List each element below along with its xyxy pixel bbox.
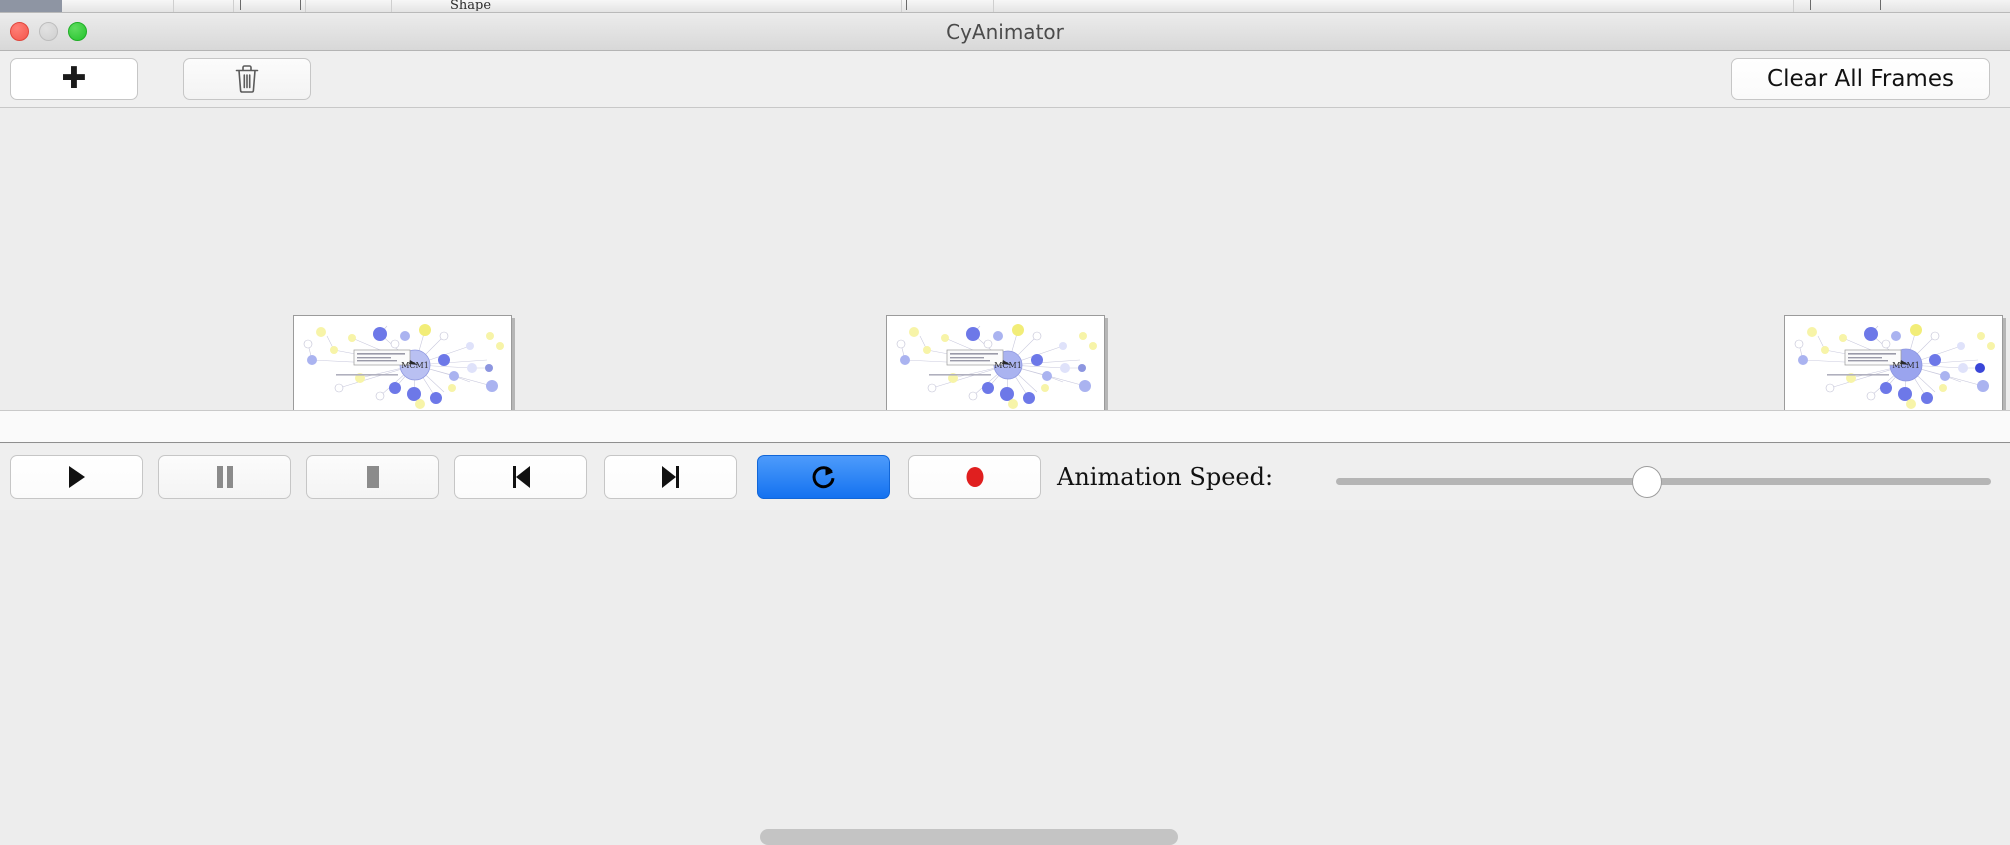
background-segment-1 xyxy=(62,0,174,13)
playback-toolbar: Animation Speed: xyxy=(0,444,2010,510)
clear-all-frames-button[interactable]: Clear All Frames xyxy=(1731,58,1990,100)
stop-icon xyxy=(362,464,384,490)
loop-icon xyxy=(811,463,837,491)
loop-button[interactable] xyxy=(757,455,890,499)
frames-toolbar: ✚ Clear All Frames xyxy=(0,51,2010,108)
network-thumbnail-icon: MCM1 xyxy=(887,316,1105,411)
skip-end-button[interactable] xyxy=(604,455,737,499)
background-tick-5 xyxy=(1880,0,1881,10)
plus-icon: ✚ xyxy=(61,64,86,94)
animation-speed-slider-thumb[interactable] xyxy=(1632,466,1662,498)
timeline-frame-thumbnail[interactable]: MCM1 xyxy=(1784,315,2003,411)
stop-button[interactable] xyxy=(306,455,439,499)
record-icon xyxy=(963,464,987,490)
skip-start-button[interactable] xyxy=(454,455,587,499)
window-titlebar: CyAnimator xyxy=(0,13,2010,51)
background-segment-3 xyxy=(234,0,306,13)
horizontal-scrollbar-track[interactable] xyxy=(0,411,2010,443)
background-tick-2 xyxy=(300,0,301,10)
background-window-label: Shape xyxy=(450,0,491,11)
network-thumbnail-icon: MCM1 xyxy=(294,316,512,411)
trash-icon xyxy=(234,64,260,94)
pause-button[interactable] xyxy=(158,455,291,499)
svg-text:MCM1: MCM1 xyxy=(1892,361,1920,370)
play-icon xyxy=(65,464,89,490)
skip-end-icon xyxy=(659,464,683,490)
add-frame-button[interactable]: ✚ xyxy=(10,58,138,100)
background-window-strip: Shape xyxy=(0,0,2010,13)
animation-speed-label: Animation Speed: xyxy=(1057,455,1273,499)
clear-all-frames-label: Clear All Frames xyxy=(1767,66,1954,92)
horizontal-scrollbar-thumb[interactable] xyxy=(760,829,1178,845)
skip-start-icon xyxy=(509,464,533,490)
timeline-panel[interactable]: MCM1 xyxy=(0,108,2010,411)
background-tick-3 xyxy=(906,0,907,10)
background-segment-4 xyxy=(306,0,392,13)
delete-frame-button[interactable] xyxy=(183,58,311,100)
record-button[interactable] xyxy=(908,455,1041,499)
background-segment-6 xyxy=(902,0,994,13)
background-tick-1 xyxy=(240,0,241,10)
background-segment-7 xyxy=(994,0,1794,13)
background-window-titlebar-fragment xyxy=(0,0,62,12)
background-segment-2 xyxy=(174,0,234,13)
pause-icon xyxy=(214,464,236,490)
svg-text:MCM1: MCM1 xyxy=(994,361,1022,370)
svg-text:MCM1: MCM1 xyxy=(401,361,429,370)
network-thumbnail-icon: MCM1 xyxy=(1785,316,2003,411)
animation-speed-slider-track[interactable] xyxy=(1336,478,1991,485)
background-tick-4 xyxy=(1810,0,1811,10)
window-title: CyAnimator xyxy=(0,13,2010,51)
timeline-frame-thumbnail[interactable]: MCM1 xyxy=(886,315,1105,411)
play-button[interactable] xyxy=(10,455,143,499)
timeline-frame-thumbnail[interactable]: MCM1 xyxy=(293,315,512,411)
